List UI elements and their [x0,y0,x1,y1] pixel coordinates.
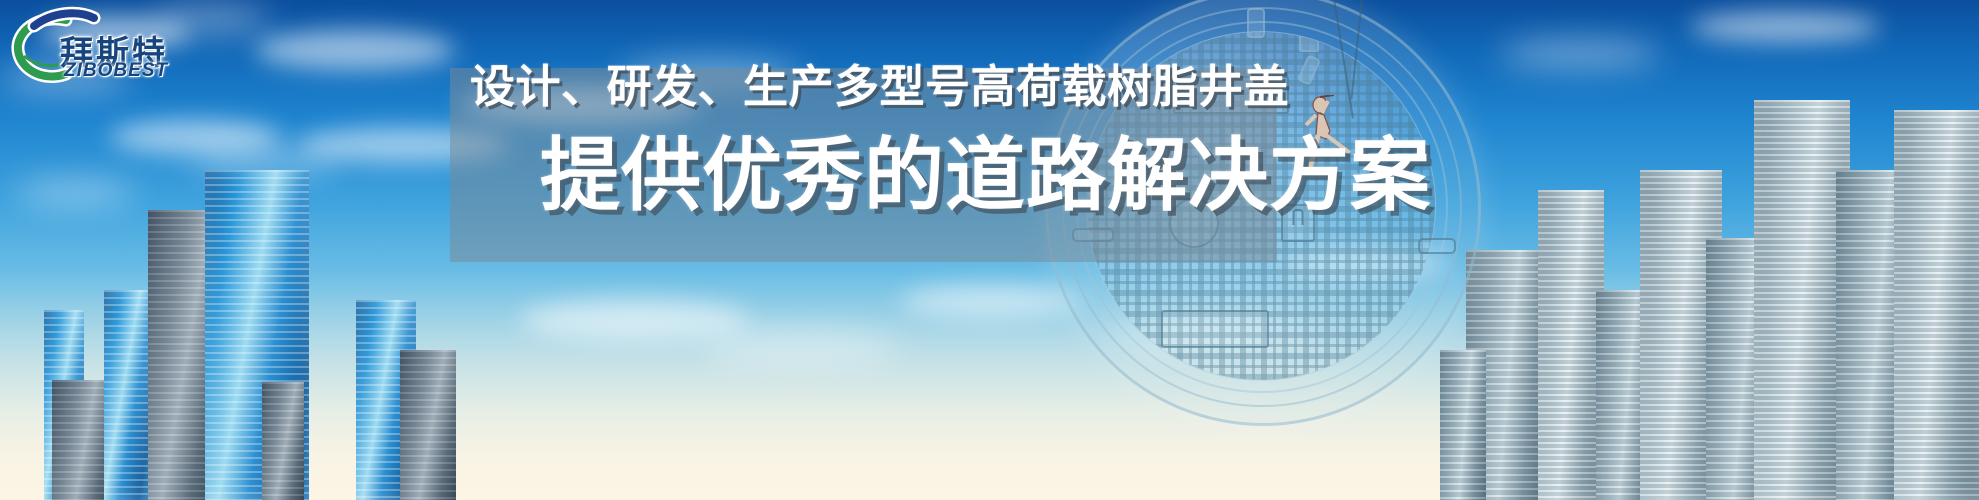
manhole-hinge-tab-top [1247,8,1265,38]
building-right-1 [1538,190,1604,500]
hero-banner: 设计、研发、生产多型号高荷载树脂井盖 提供优秀的道路解决方案 拜斯特 ZIBOB… [0,0,1979,500]
manhole-bottom-slot [1161,310,1269,348]
manhole-right-handle [1418,238,1456,254]
manhole-top-tab [1299,31,1319,52]
climber-figure [1300,95,1360,187]
building-right-7 [1894,110,1979,500]
site-logo[interactable]: 拜斯特 ZIBOBEST [8,4,178,92]
logo-brand-en: ZIBOBEST [64,60,168,82]
building-right-8 [1440,350,1486,500]
headline-panel [450,68,1277,262]
manhole-lock-plate [1281,204,1315,242]
